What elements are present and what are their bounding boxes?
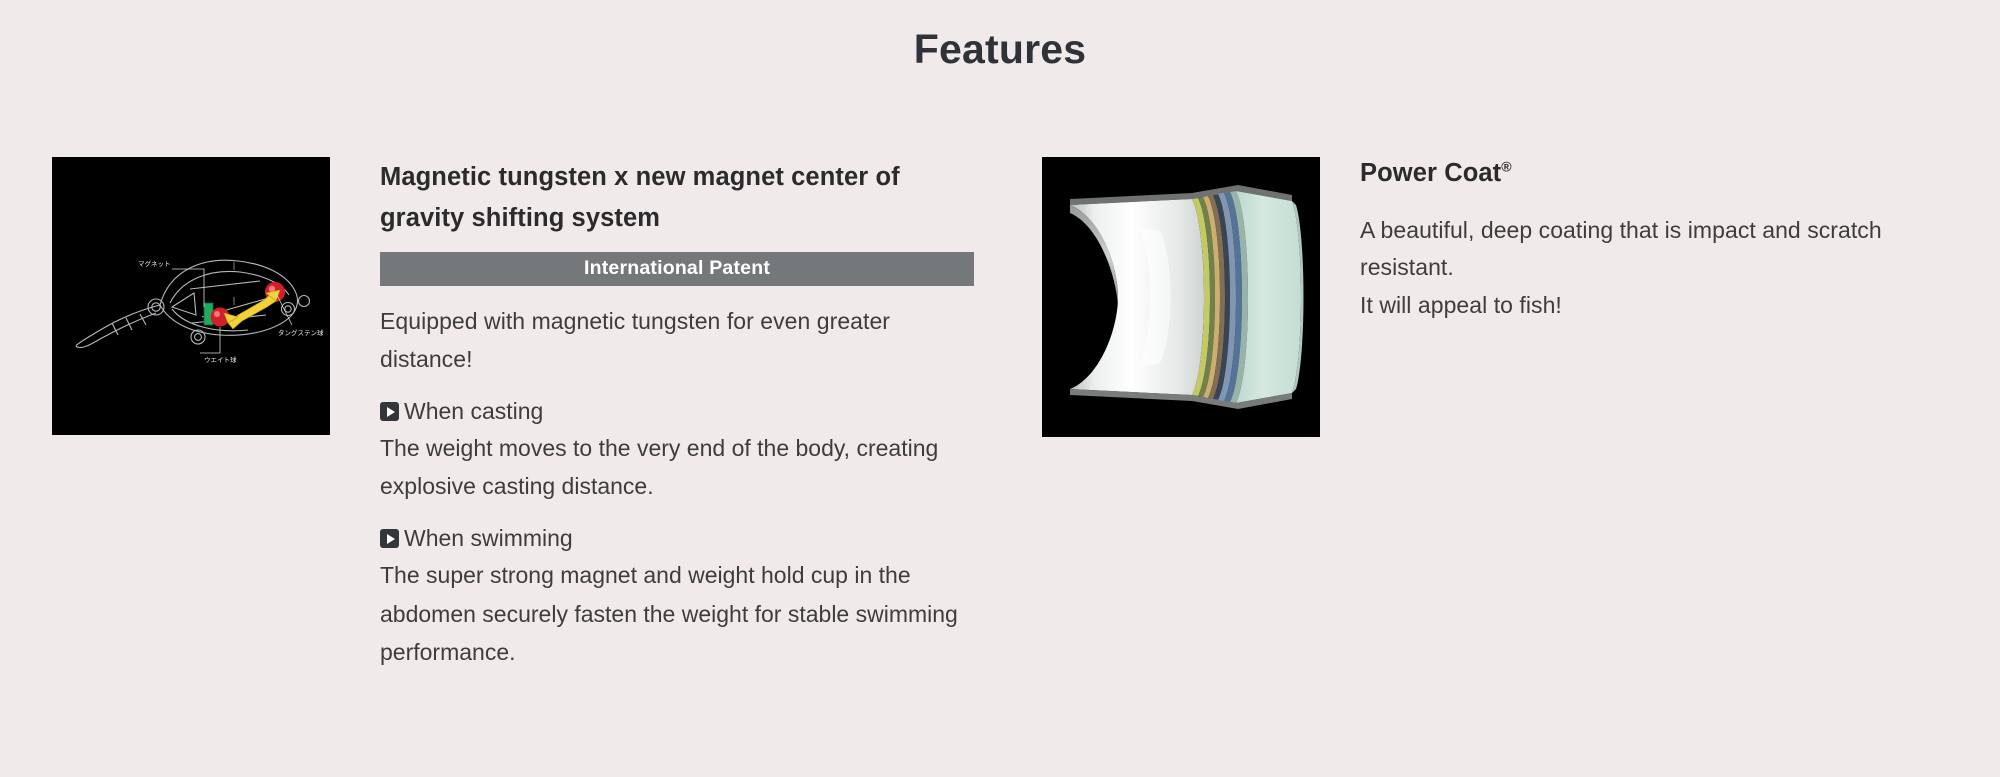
lure-diagram-stage: マグネット ウエイト球 タングステン球 [52, 157, 330, 435]
feature-heading: Magnetic tungsten x new magnet center of… [380, 157, 980, 240]
feature-card-power-coat: Power Coat® A beautiful, deep coating th… [1042, 157, 1942, 437]
feature-heading: Power Coat® [1360, 157, 1920, 190]
play-icon [380, 529, 399, 548]
feature-body-power-coat: Power Coat® A beautiful, deep coating th… [1360, 157, 1920, 324]
feature-description: A beautiful, deep coating that is impact… [1360, 212, 1920, 324]
subsection-text: The super strong magnet and weight hold … [380, 556, 980, 672]
page-title: Features [0, 26, 2000, 73]
svg-text:マグネット: マグネット [138, 259, 171, 268]
feature-description-line: A beautiful, deep coating that is impact… [1360, 217, 1882, 280]
subsection-title-row: When casting [380, 397, 980, 427]
subsection-when-swimming: When swimming The super strong magnet an… [380, 524, 980, 672]
feature-card-magnetic-tungsten: マグネット ウエイト球 タングステン球 Magnetic tungsten x … [52, 157, 982, 672]
status-badge-international-patent: International Patent [380, 252, 974, 286]
lure-xray-icon: マグネット ウエイト球 タングステン球 [52, 157, 330, 435]
play-icon [380, 402, 399, 421]
subsection-title: When swimming [404, 524, 573, 554]
features-section: Features [0, 0, 2000, 777]
feature-heading-text: Power Coat [1360, 159, 1501, 187]
feature-body-magnetic-tungsten: Magnetic tungsten x new magnet center of… [380, 157, 980, 672]
subsection-title-row: When swimming [380, 524, 980, 554]
subsection-text: The weight moves to the very end of the … [380, 429, 980, 506]
coating-layers-icon [1042, 157, 1320, 437]
coating-cross-section [1042, 157, 1320, 437]
svg-text:タングステン球: タングステン球 [278, 328, 324, 337]
registered-trademark-icon: ® [1501, 159, 1511, 175]
feature-description-line: It will appeal to fish! [1360, 292, 1562, 318]
feature-intro-text: Equipped with magnetic tungsten for even… [380, 302, 980, 379]
lure-xray-diagram: マグネット ウエイト球 タングステン球 [52, 157, 330, 435]
subsection-when-casting: When casting The weight moves to the ver… [380, 397, 980, 506]
coating-stage [1042, 157, 1320, 437]
svg-text:ウエイト球: ウエイト球 [204, 355, 237, 364]
subsection-title: When casting [404, 397, 543, 427]
